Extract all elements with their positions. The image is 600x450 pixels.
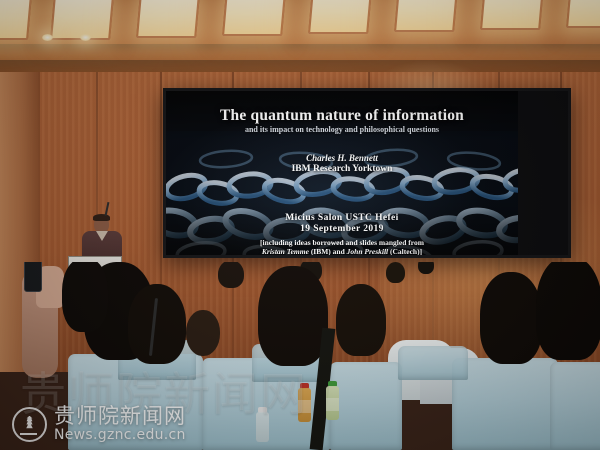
ceiling-light-panel — [222, 0, 286, 36]
slide-credit-line-2: Kristan Temme (IBM) and John Preskill (C… — [166, 247, 518, 255]
bottle-body — [256, 412, 269, 442]
credit-name-2: John Preskill — [347, 247, 388, 255]
slide-venue: Micius Salon USTC Hefei — [166, 213, 518, 223]
ceiling-light-panel — [0, 0, 32, 40]
tea-bottle — [326, 386, 339, 420]
audience-head — [218, 262, 244, 288]
screen-unlit-area — [518, 91, 568, 255]
projection-screen: The quantum nature of information and it… — [163, 88, 571, 258]
chair-back — [330, 362, 402, 450]
recessed-downlight — [80, 34, 91, 41]
juice-bottle — [298, 388, 311, 422]
credit-suffix: (Caltech)] — [388, 247, 422, 255]
audience-head — [62, 262, 108, 332]
ceiling-light-panel — [394, 0, 458, 32]
recessed-downlight — [42, 34, 53, 41]
speaker-hair — [93, 214, 110, 221]
audience-area — [0, 262, 600, 450]
audience-head — [536, 262, 600, 360]
smartphone-icon — [24, 262, 42, 292]
slide-date: 19 September 2019 — [166, 224, 518, 234]
audience-head — [336, 284, 386, 356]
audience-head — [186, 310, 220, 356]
bottle-label — [298, 400, 311, 413]
slide-subtitle: and its impact on technology and philoso… — [166, 125, 518, 134]
lecture-hall-photo: The quantum nature of information and it… — [0, 0, 600, 450]
audience-head — [128, 284, 186, 364]
audience-head — [480, 272, 542, 364]
slide-author: Charles H. Bennett — [166, 153, 518, 163]
slide-text-layer: The quantum nature of information and it… — [166, 91, 518, 255]
ceiling-light-panel — [308, 0, 372, 34]
slide-affiliation: IBM Research Yorktown — [166, 164, 518, 174]
credit-mid: (IBM) and — [309, 247, 347, 255]
ceiling-light-panel — [136, 0, 200, 38]
chair-back — [550, 362, 600, 450]
audience-head — [258, 266, 328, 366]
audience-head — [386, 262, 405, 283]
ceiling-light-panel — [566, 0, 600, 28]
presentation-slide: The quantum nature of information and it… — [166, 91, 518, 255]
slide-credit-line-1: [including ideas borrowed and slides man… — [166, 238, 518, 247]
bottle-label — [326, 398, 339, 411]
ceiling-light-row — [0, 0, 600, 46]
slide-title: The quantum nature of information — [166, 107, 518, 125]
chair-back — [398, 346, 468, 380]
screen-surface: The quantum nature of information and it… — [166, 91, 568, 255]
audience-head — [418, 262, 434, 274]
water-bottle — [256, 412, 269, 442]
credit-name-1: Kristan Temme — [262, 247, 309, 255]
ceiling-light-panel — [480, 0, 544, 30]
